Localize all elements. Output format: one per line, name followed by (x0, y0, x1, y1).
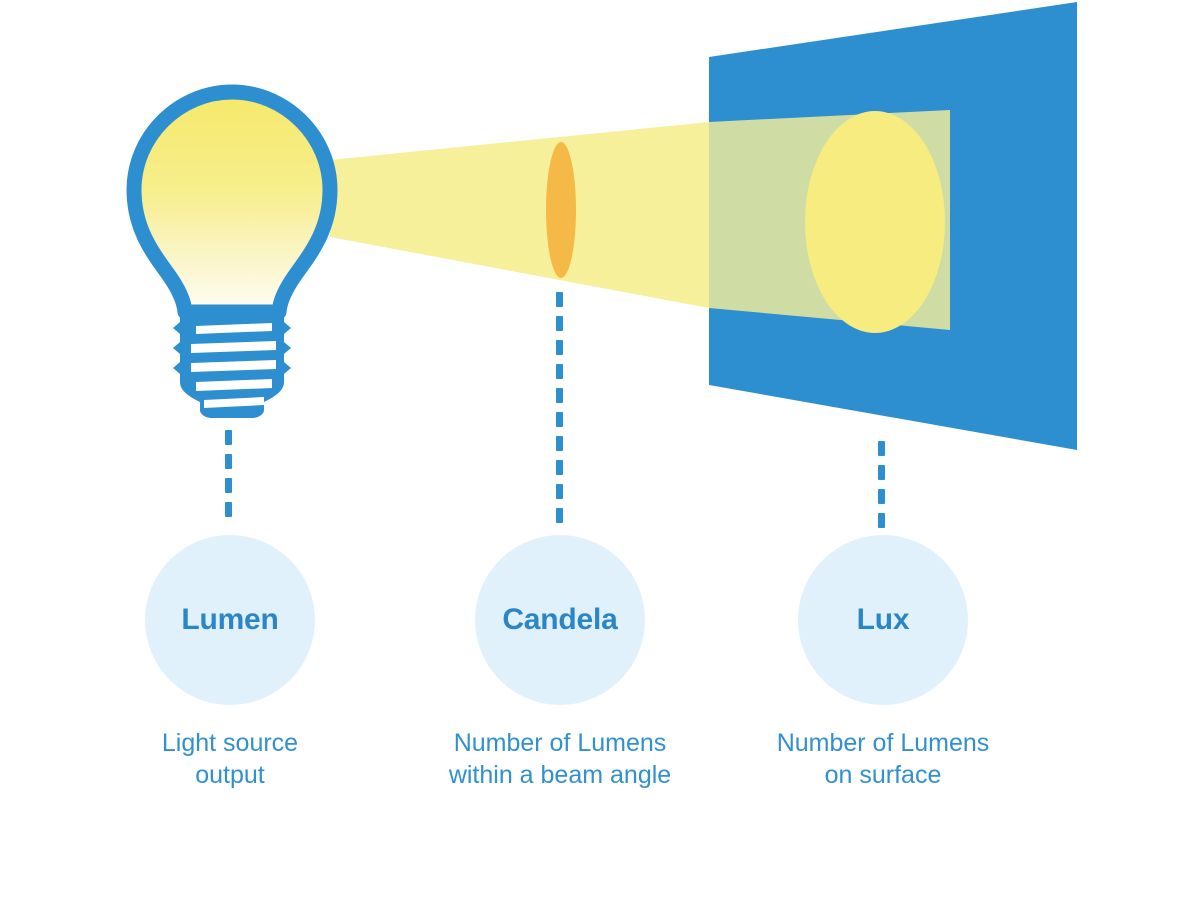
light-pool-icon (805, 111, 945, 333)
legend-title-lumen: Lumen (181, 603, 278, 637)
light-beam-icon (330, 122, 709, 308)
candela-connector (556, 292, 563, 523)
beam-cross-section-icon (546, 142, 576, 278)
legend-caption-candela: Number of Lumens within a beam angle (400, 727, 720, 791)
diagram-canvas: Lumen Light source output Candela Number… (0, 0, 1200, 900)
lumen-connector (225, 430, 232, 517)
legend-item-lux[interactable]: Lux Number of Lumens on surface (723, 535, 1043, 791)
legend-item-lumen[interactable]: Lumen Light source output (70, 535, 390, 791)
legend-caption-lux: Number of Lumens on surface (723, 727, 1043, 791)
legend-circle-lumen[interactable]: Lumen (145, 535, 315, 705)
legend-circle-candela[interactable]: Candela (475, 535, 645, 705)
legend-circle-lux[interactable]: Lux (798, 535, 968, 705)
legend-title-lux: Lux (857, 603, 910, 637)
legend-title-candela: Candela (502, 603, 617, 637)
legend-caption-lumen: Light source output (70, 727, 390, 791)
lux-connector (878, 441, 885, 528)
legend-item-candela[interactable]: Candela Number of Lumens within a beam a… (400, 535, 720, 791)
light-bulb-icon (134, 92, 330, 418)
